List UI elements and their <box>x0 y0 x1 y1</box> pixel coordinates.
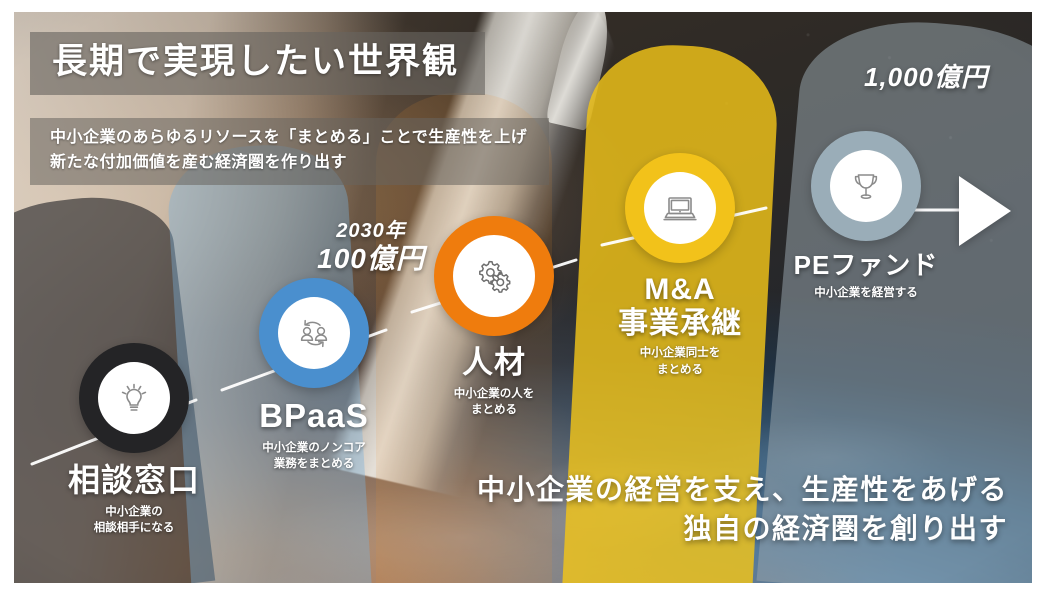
step-disc-jinzai <box>434 216 554 336</box>
laptop-icon <box>658 186 702 230</box>
step-sub-ma: 中小企業同士を まとめる <box>565 345 795 378</box>
subtitle-line-1: 中小企業のあらゆるリソースを「まとめる」ことで生産性を上げ <box>50 126 527 151</box>
trophy-icon <box>846 166 886 206</box>
goal-arrow-icon <box>959 176 1011 246</box>
tagline-line-2: 独自の経済圏を創り出す <box>477 509 1008 549</box>
step-sub-consult-line-1: 中小企業の <box>19 504 249 520</box>
step-disc-inner-consult <box>98 362 170 434</box>
slide-canvas: 長期で実現したい世界観 中小企業のあらゆるリソースを「まとめる」ことで生産性を上… <box>14 12 1032 583</box>
gears-icon <box>471 253 517 299</box>
step-disc-pe <box>811 131 921 241</box>
step-sub-jinzai: 中小企業の人を まとめる <box>379 386 609 419</box>
step-sub-consult-line-2: 相談相手になる <box>19 520 249 536</box>
subtitle-banner: 中小企業のあらゆるリソースを「まとめる」ことで生産性を上げ 新たな付加価値を産む… <box>30 118 549 185</box>
step-disc-inner-pe <box>830 150 902 222</box>
step-sub-bpaas-line-2: 業務をまとめる <box>199 456 429 472</box>
lightbulb-icon <box>114 378 154 418</box>
step-sub-bpaas: 中小企業のノンコア 業務をまとめる <box>199 440 429 473</box>
step-disc-ma <box>625 153 735 263</box>
step-disc-inner-bpaas <box>278 297 350 369</box>
step-title-pe: PEファンド <box>751 251 981 280</box>
tagline-line-1: 中小企業の経営を支え、生産性をあげる <box>477 470 1008 510</box>
title-banner: 長期で実現したい世界観 <box>30 32 485 95</box>
step-disc-inner-ma <box>644 172 716 244</box>
step-disc-inner-jinzai <box>453 235 535 317</box>
page-title: 長期で実現したい世界観 <box>52 41 459 82</box>
slide-frame: 長期で実現したい世界観 中小企業のあらゆるリソースを「まとめる」ことで生産性を上… <box>0 0 1046 596</box>
step-sub-ma-line-2: まとめる <box>565 362 795 378</box>
tagline: 中小企業の経営を支え、生産性をあげる 独自の経済圏を創り出す <box>477 470 1008 550</box>
people-exchange-icon <box>293 312 335 354</box>
milestone-1000: 1,000億円 <box>826 63 1026 92</box>
step-sub-pe-line-1: 中小企業を経営する <box>751 285 981 301</box>
subtitle-line-2: 新たな付加価値を産む経済圏を作り出す <box>50 151 527 176</box>
step-sub-jinzai-line-2: まとめる <box>379 402 609 418</box>
step-sub-consult: 中小企業の 相談相手になる <box>19 504 249 537</box>
step-sub-ma-line-1: 中小企業同士を <box>565 345 795 361</box>
step-disc-bpaas <box>259 278 369 388</box>
step-disc-consult <box>79 343 189 453</box>
step-sub-pe: 中小企業を経営する <box>751 285 981 301</box>
milestone-1000-amount: 1,000億円 <box>826 63 1026 92</box>
step-title-ma-line-2: 事業承継 <box>565 307 795 341</box>
step-sub-jinzai-line-1: 中小企業の人を <box>379 386 609 402</box>
step-node-pe[interactable]: PEファンド 中小企業を経営する <box>751 131 981 301</box>
step-sub-bpaas-line-1: 中小企業のノンコア <box>199 440 429 456</box>
